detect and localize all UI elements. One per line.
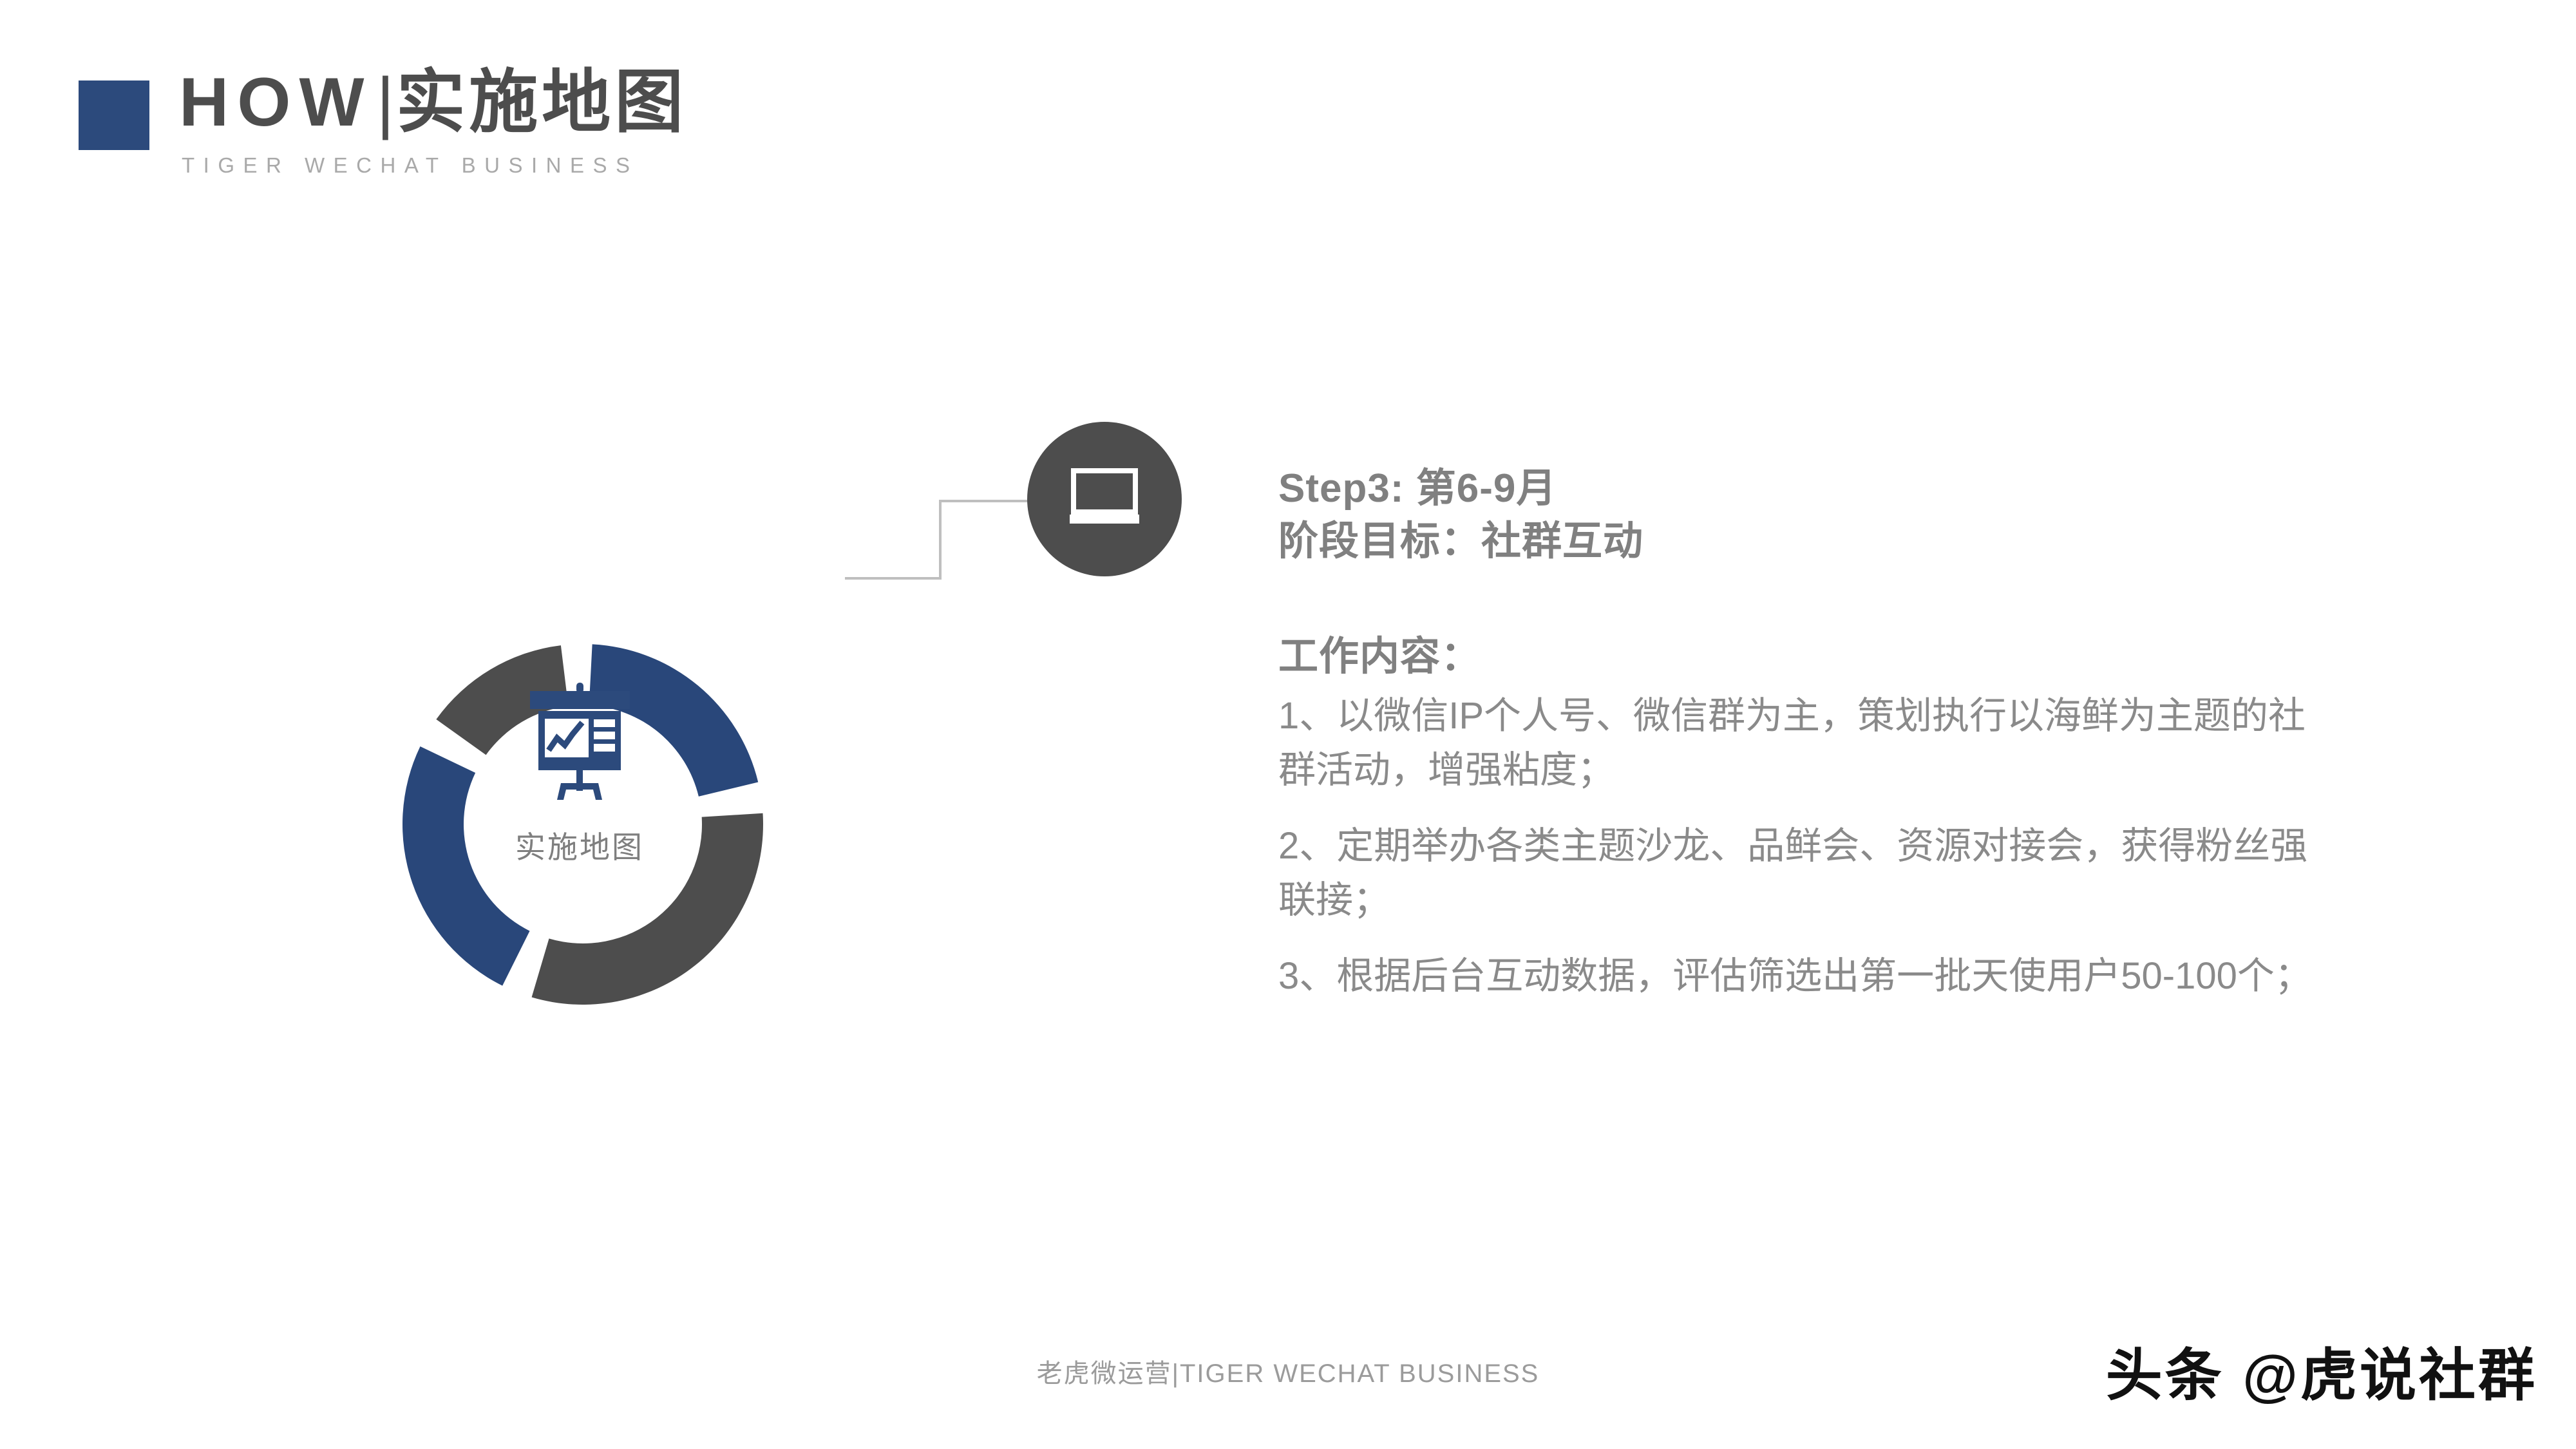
page-title: HOW|实施地图 [179,64,687,140]
content-column: Step3: 第6-9月 阶段目标：社群互动 工作内容： 1、以微信IP个人号、… [1278,462,2438,1003]
page-title-divider: | [377,63,395,140]
donut-center: 实施地图 [460,683,699,895]
laptop-icon [1066,468,1143,531]
header-subtitle: TIGER WECHAT BUSINESS [182,153,639,178]
work-item-3: 3、根据后台互动数据，评估筛选出第一批天使用户50-100个； [1278,949,2334,1003]
presentation-board-icon-svg [521,683,638,805]
header-accent-square [79,80,149,150]
laptop-icon-svg [1066,468,1143,527]
watermark: 头条 @虎说社群 [2106,1330,2537,1412]
work-item-2: 2、定期举办各类主题沙龙、品鲜会、资源对接会，获得粉丝强联接； [1278,819,2334,927]
work-item-1: 1、以微信IP个人号、微信群为主，策划执行以海鲜为主题的社群活动，增强粘度； [1278,689,2334,797]
page-title-latin: HOW [179,63,373,140]
step-badge[interactable] [1027,422,1182,576]
donut-center-label: 实施地图 [515,822,644,867]
presentation-board-icon [521,683,638,808]
page-title-cn: 实施地图 [396,63,687,140]
slide-header: HOW|实施地图 TIGER WECHAT BUSINESS [0,0,2576,213]
step-heading: Step3: 第6-9月 阶段目标：社群互动 [1278,462,2438,569]
work-content-heading: 工作内容： [1278,623,2438,681]
slide-canvas: HOW|实施地图 TIGER WECHAT BUSINESS [0,0,2576,1449]
